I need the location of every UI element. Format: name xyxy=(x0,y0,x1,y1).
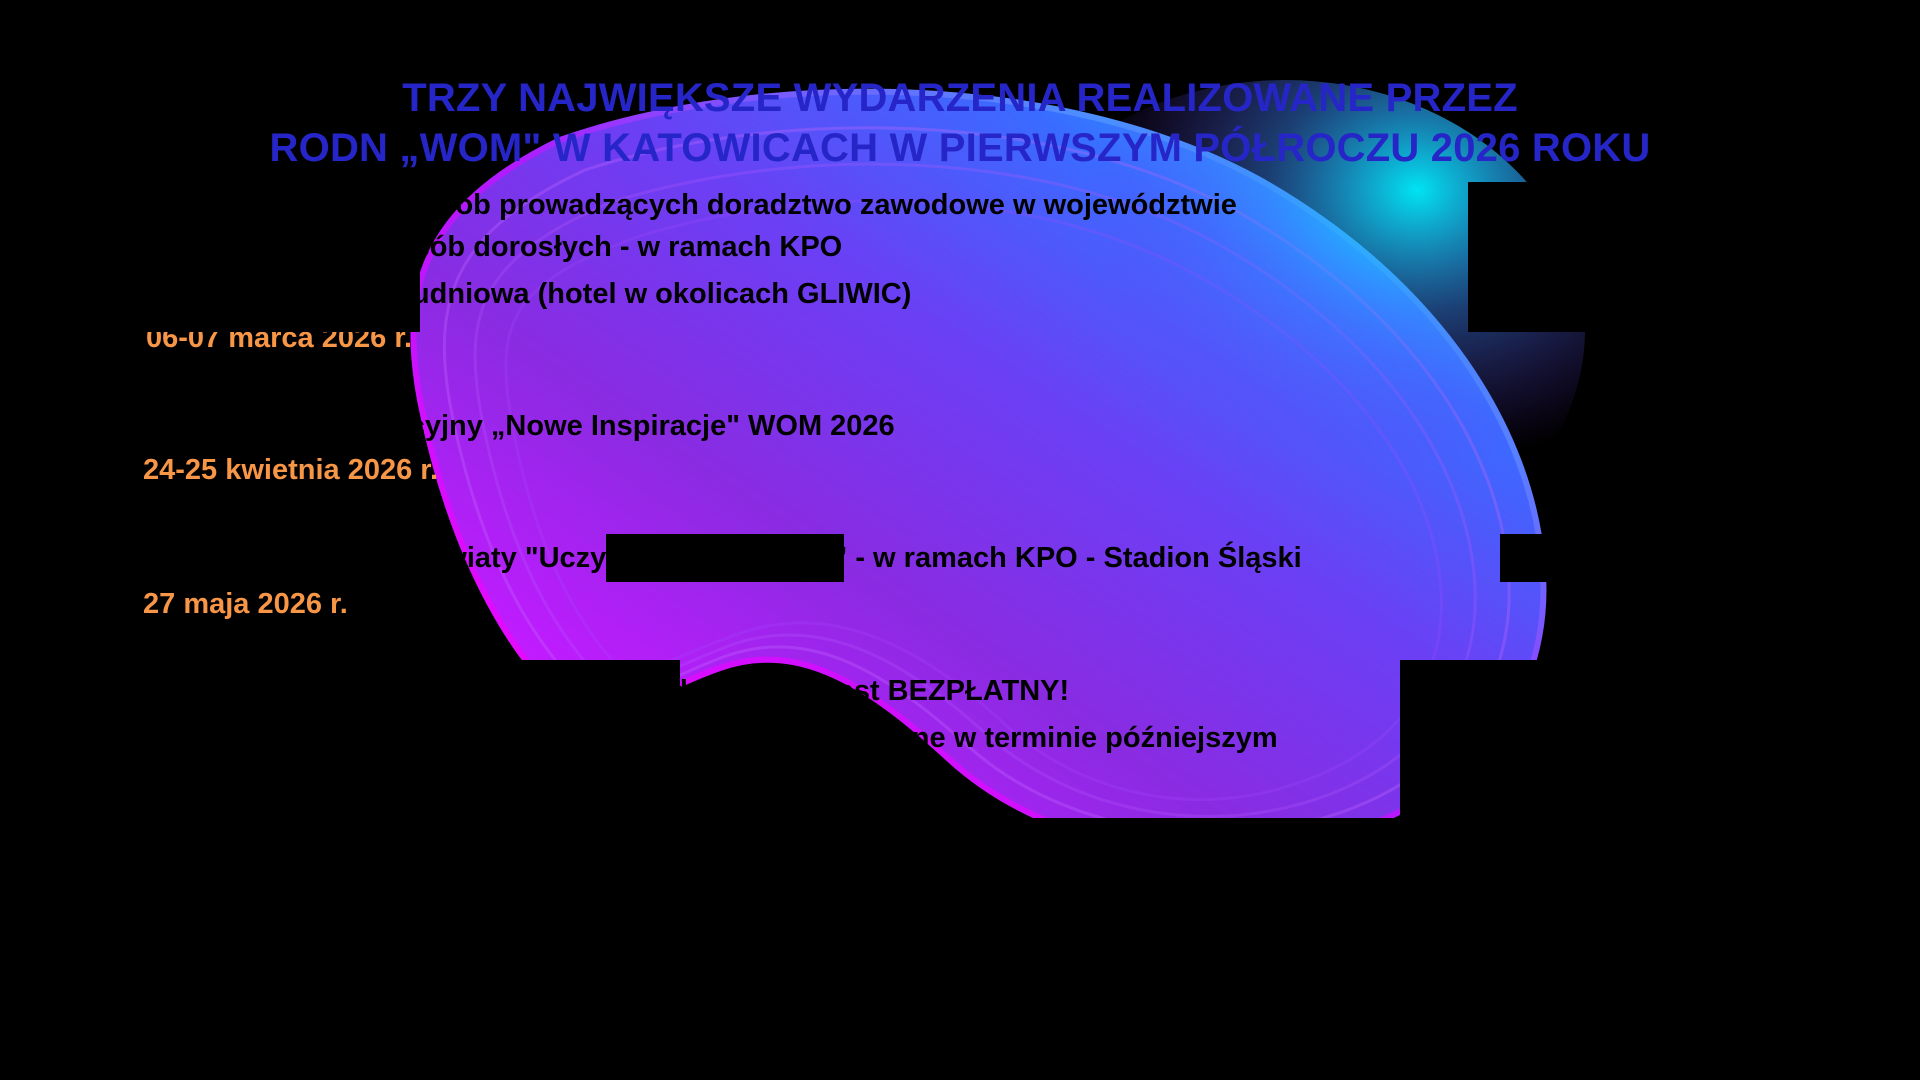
note-line-1: Udział we wszystkich wydarzeniach jest B… xyxy=(330,675,1069,708)
event-1-line-2: oraz edukację osób dorosłych - w ramach … xyxy=(196,231,842,264)
event-3-line-1: Piknik Śląskiej Oświaty "Uczymy dziś dla… xyxy=(196,542,1302,575)
slide-text-layer: TRZY NAJWIĘKSZE WYDARZENIA REALIZOWANE P… xyxy=(0,0,1920,1080)
event-1-line-1: Konferencja dla osób prowadzących doradz… xyxy=(196,189,1237,222)
event-1-line-3: Konferencja dwudniowa (hotel w okolicach… xyxy=(196,278,911,311)
slide-title-line-1: TRZY NAJWIĘKSZE WYDARZENIA REALIZOWANE P… xyxy=(0,76,1920,121)
event-3-date: 27 maja 2026 r. xyxy=(143,588,348,621)
presentation-slide: TRZY NAJWIĘKSZE WYDARZENIA REALIZOWANE P… xyxy=(0,0,1920,1080)
event-2-date: 24-25 kwietnia 2026 r. xyxy=(143,454,438,487)
note-line-3: za pośrednictwem strony internetowej xyxy=(360,769,887,802)
event-2-line-1: Kongres Edukacyjny „Nowe Inspiracje" WOM… xyxy=(196,410,895,443)
slide-title-line-2: RODN „WOM" W KATOWICACH W PIERWSZYM PÓŁR… xyxy=(0,126,1920,171)
event-1-date: 06-07 marca 2026 r. xyxy=(146,322,412,355)
note-line-2: Szczegółowe informacje zostaną przekazan… xyxy=(330,722,1278,755)
